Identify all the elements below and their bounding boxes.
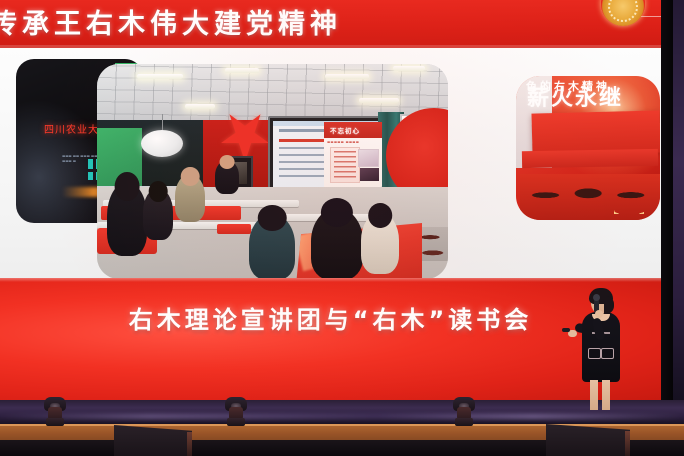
stage-light-left [44,396,66,426]
table-red-cloth-3 [217,224,251,234]
banner-headline-text: 传承王右木伟大建党精神 [0,2,342,41]
poster-title-text: 不忘初心 [330,125,360,135]
stage-light-center-right [453,396,475,426]
slide-title-band: 右木理论宣讲团与“右木”读书会 [0,278,661,400]
presenter-pocket-right [601,348,614,359]
ceiling-light-1 [137,74,183,79]
led-screen: 传承王右木伟大建党精神 四川农业大学 ▬▬▬ ▬▬ ▬▬▬ ▬▬ ▬▬▬ ▬ [0,0,661,400]
light-base [455,418,473,426]
classroom-person-1 [107,182,147,256]
classroom-person-7 [215,160,239,194]
classroom-person-3 [175,174,205,222]
classroom-person-2 [143,188,173,240]
classroom-person-6 [361,212,399,274]
slide-top-banner: 传承王右木伟大建党精神 [0,0,661,48]
pendant-lamp-icon [141,130,183,157]
left-photo-fine-text: ▬▬▬ ▬▬ ▬▬▬ ▬▬ ▬▬▬ ▬ [62,154,100,164]
ceiling-light-5 [359,98,399,103]
poster-thumb-2 [360,168,379,181]
screen-bezel-right [661,0,673,400]
left-photo-cyan-bar-3 [88,172,93,180]
right-photo-subbanner-text: 色的右木精神 [526,78,610,94]
stage-wall-right [673,0,684,404]
stage-presentation-photo: 传承王右木伟大建党精神 四川农业大学 ▬▬▬ ▬▬ ▬▬▬ ▬▬ ▬▬▬ ▬ [0,0,684,456]
presenter-left-leg [590,380,598,410]
presenter-right-leg [602,380,610,410]
presenter-pocket-left [588,348,601,359]
person-head [258,205,287,231]
person-head [149,181,168,202]
classroom-person-5 [311,208,363,279]
person-head [220,155,235,169]
poster-subtitle-text: ▬▬▬▬▬ ▬▬▬▬ [327,140,359,144]
light-base [46,418,64,426]
person-head [321,198,353,227]
wall-poster: 不忘初心 ▬▬▬▬▬ ▬▬▬▬ [324,122,382,188]
slide-photo-center: 不忘初心 ▬▬▬▬▬ ▬▬▬▬ [97,64,448,279]
party-emblem-icon [601,0,645,26]
ceiling-light-6 [185,104,215,109]
person-head [115,172,140,202]
person-head [181,167,200,186]
ceiling-light-4 [393,66,425,71]
classroom-person-4 [249,214,295,279]
left-photo-cyan-bar-1 [88,159,93,169]
presentation-clicker-icon [562,328,570,332]
presenter [578,290,624,410]
right-photo-flower [614,190,644,214]
person-head [368,203,392,228]
poster-thumb-1 [358,149,379,167]
slide-photo-right: 薪火永继 色的右木精神 [516,76,660,220]
presenter-right-hand [595,310,603,318]
light-base [227,418,245,426]
slide-white-body: 四川农业大学 ▬▬▬ ▬▬ ▬▬▬ ▬▬ ▬▬▬ ▬ [0,48,661,278]
ceiling-light-2 [225,68,259,73]
presenter-hair-side [604,296,614,314]
stage-light-center-left [225,396,247,426]
poster-text-block [330,147,360,183]
red-star-icon [221,126,269,143]
right-photo-subbanner [522,149,658,168]
ceiling-light-3 [325,74,369,79]
